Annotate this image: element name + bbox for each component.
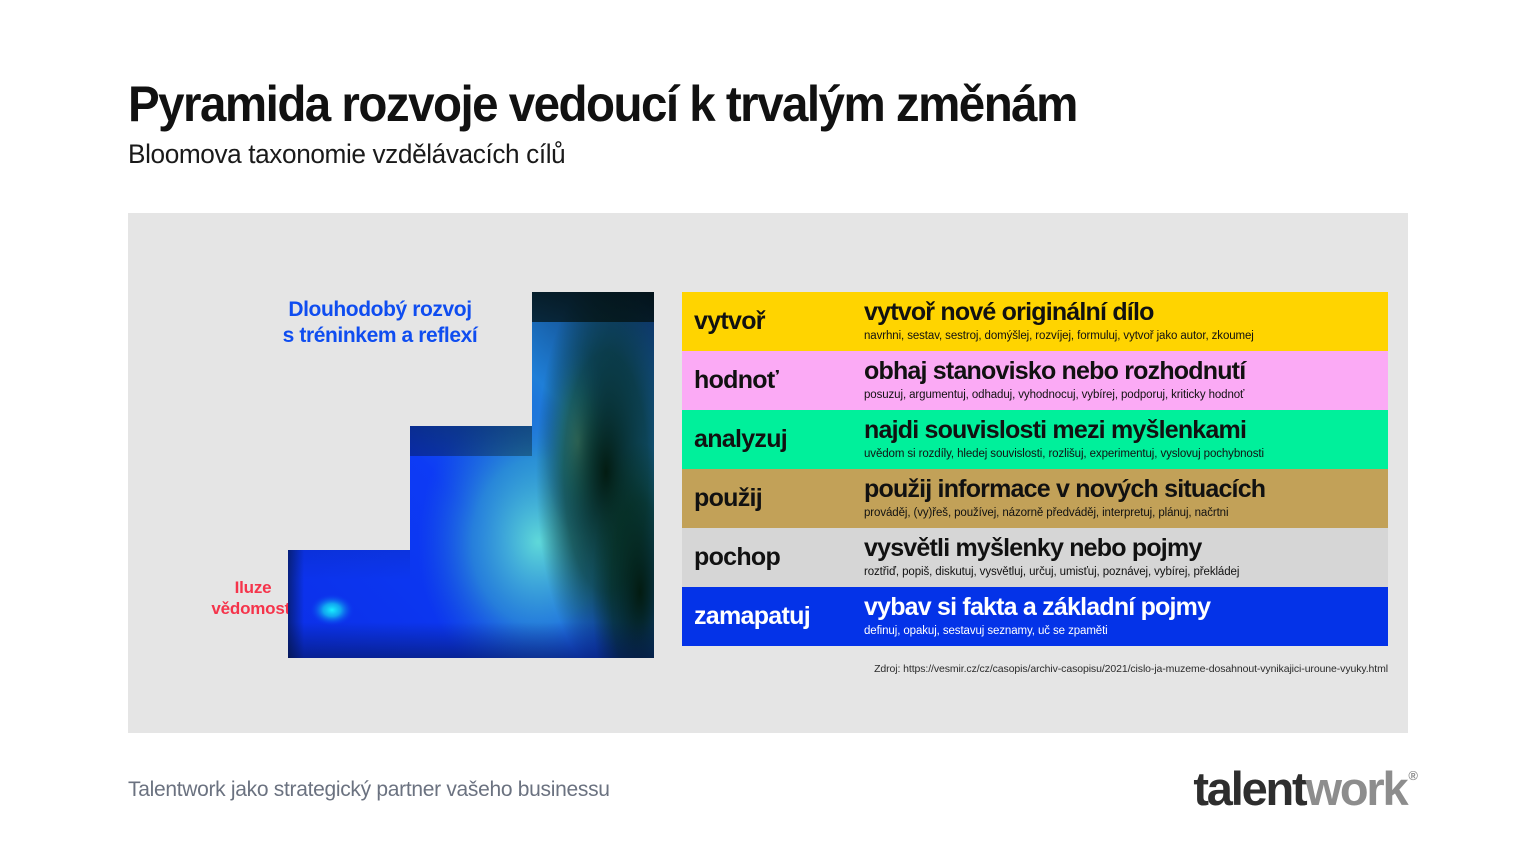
source-citation: Zdroj: https://vesmir.cz/cz/casopis/arch…: [682, 663, 1388, 675]
taxonomy-subtext: roztřiď, popiš, diskutuj, vysvětluj, urč…: [864, 566, 1382, 580]
taxonomy-subtext: definuj, opakuj, sestavuj seznamy, uč se…: [864, 625, 1382, 639]
logo-text-work: work: [1306, 765, 1407, 812]
taxonomy-row-apply[interactable]: použij použij informace v nových situací…: [682, 469, 1388, 528]
talentwork-logo: talent work ®: [1193, 765, 1418, 812]
taxonomy-body: vysvětli myšlenky nebo pojmy roztřiď, po…: [864, 528, 1388, 587]
taxonomy-verb: vytvoř: [682, 292, 864, 351]
logo-text-talent: talent: [1193, 765, 1305, 812]
taxonomy-verb: použij: [682, 469, 864, 528]
registered-trademark-icon: ®: [1408, 769, 1418, 782]
footer-tagline: Talentwork jako strategický partner vaše…: [128, 778, 610, 802]
taxonomy-headline: vysvětli myšlenky nebo pojmy: [864, 535, 1382, 562]
taxonomy-subtext: uvědom si rozdíly, hledej souvislosti, r…: [864, 448, 1382, 462]
taxonomy-body: vytvoř nové originální dílo navrhni, ses…: [864, 292, 1388, 351]
taxonomy-body: použij informace v nových situacích prov…: [864, 469, 1388, 528]
infographic-panel: Dlouhodobý rozvoj s tréninkem a reflexí …: [128, 213, 1408, 733]
taxonomy-table: vytvoř vytvoř nové originální dílo navrh…: [682, 292, 1388, 646]
staircase-graphic: [288, 292, 656, 660]
staircase-fill: [288, 292, 656, 660]
taxonomy-subtext: prováděj, (vy)řeš, používej, názorně pře…: [864, 507, 1382, 521]
taxonomy-body: obhaj stanovisko nebo rozhodnutí posuzuj…: [864, 351, 1388, 410]
header: Pyramida rozvoje vedoucí k trvalým změná…: [128, 78, 1428, 170]
taxonomy-headline: najdi souvislosti mezi myšlenkami: [864, 417, 1382, 444]
taxonomy-headline: vytvoř nové originální dílo: [864, 299, 1382, 326]
taxonomy-headline: použij informace v nových situacích: [864, 476, 1382, 503]
taxonomy-row-evaluate[interactable]: hodnoť obhaj stanovisko nebo rozhodnutí …: [682, 351, 1388, 410]
taxonomy-headline: obhaj stanovisko nebo rozhodnutí: [864, 358, 1382, 385]
taxonomy-verb: pochop: [682, 528, 864, 587]
taxonomy-row-understand[interactable]: pochop vysvětli myšlenky nebo pojmy rozt…: [682, 528, 1388, 587]
taxonomy-verb: zamapatuj: [682, 587, 864, 646]
taxonomy-body: vybav si fakta a základní pojmy definuj,…: [864, 587, 1388, 646]
page-subtitle: Bloomova taxonomie vzdělávacích cílů: [128, 139, 1389, 170]
page-title: Pyramida rozvoje vedoucí k trvalým změná…: [128, 78, 1363, 130]
taxonomy-verb: analyzuj: [682, 410, 864, 469]
taxonomy-row-create[interactable]: vytvoř vytvoř nové originální dílo navrh…: [682, 292, 1388, 351]
taxonomy-subtext: posuzuj, argumentuj, odhaduj, vyhodnocuj…: [864, 389, 1382, 403]
taxonomy-subtext: navrhni, sestav, sestroj, domýšlej, rozv…: [864, 330, 1382, 344]
taxonomy-headline: vybav si fakta a základní pojmy: [864, 594, 1382, 621]
taxonomy-row-analyze[interactable]: analyzuj najdi souvislosti mezi myšlenka…: [682, 410, 1388, 469]
taxonomy-row-remember[interactable]: zamapatuj vybav si fakta a základní pojm…: [682, 587, 1388, 646]
taxonomy-verb: hodnoť: [682, 351, 864, 410]
taxonomy-body: najdi souvislosti mezi myšlenkami uvědom…: [864, 410, 1388, 469]
